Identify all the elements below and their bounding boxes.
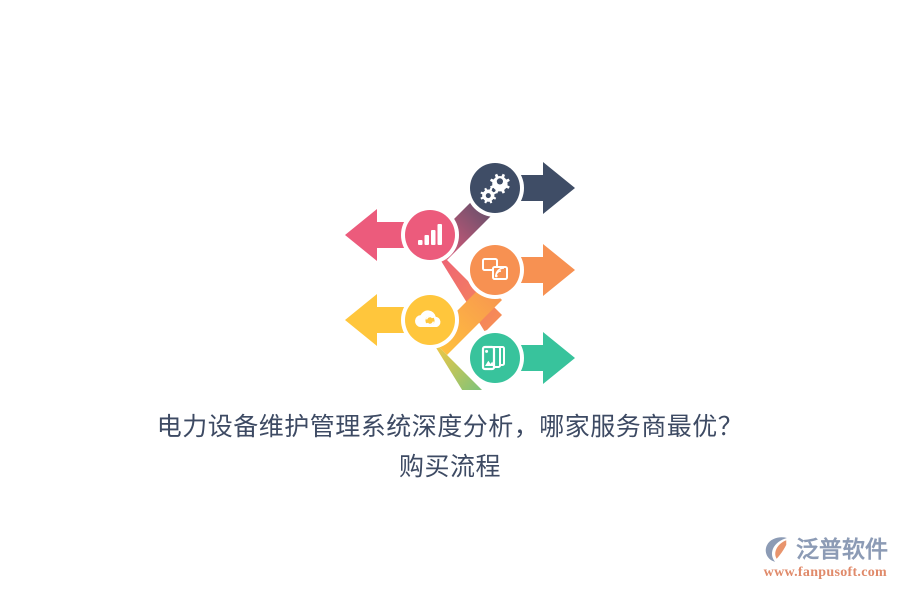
page-title-line-1: 电力设备维护管理系统深度分析，哪家服务商最优？ <box>0 408 900 448</box>
node-cloud-sync[interactable] <box>401 291 459 349</box>
node-gears[interactable] <box>466 159 524 217</box>
node-screen-cast[interactable] <box>466 241 524 299</box>
brand-watermark: 泛普软件 www.fanpusoft.com <box>758 532 888 588</box>
node-photos[interactable] <box>466 329 524 387</box>
node-bar-chart[interactable] <box>401 206 459 264</box>
page-title-line-2: 购买流程 <box>0 448 900 488</box>
page-title: 电力设备维护管理系统深度分析，哪家服务商最优？ 购买流程 <box>0 408 900 488</box>
brand-name: 泛普软件 <box>796 534 888 564</box>
fanpu-logo-icon <box>763 534 793 564</box>
brand-url: www.fanpusoft.com <box>758 565 888 581</box>
zigzag-arrow-infographic <box>330 140 590 390</box>
photos-icon <box>483 347 504 369</box>
brand-watermark-row: 泛普软件 <box>758 532 888 566</box>
page-canvas: 电力设备维护管理系统深度分析，哪家服务商最优？ 购买流程 泛普软件 www.fa… <box>0 0 900 600</box>
